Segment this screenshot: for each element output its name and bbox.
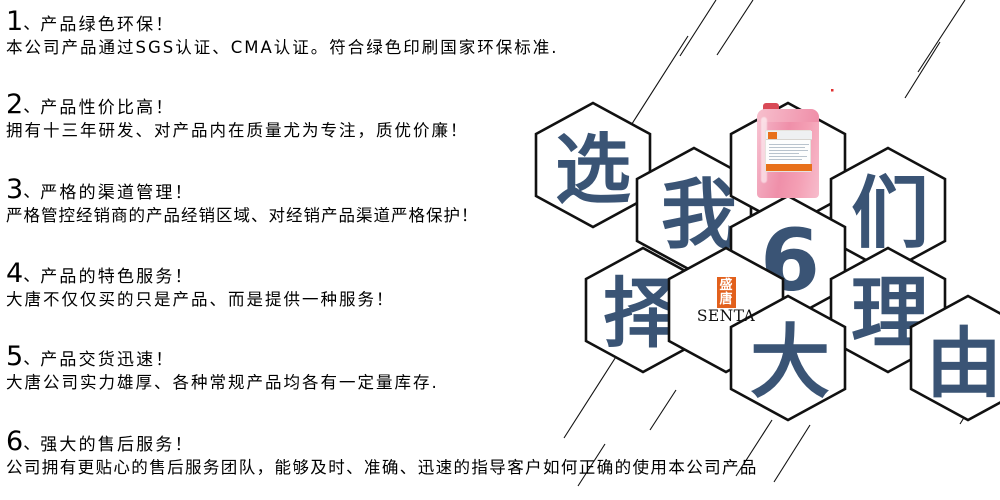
logo-wordmark: SENTA [686, 309, 766, 325]
can-label [765, 130, 811, 172]
logo-stamp-char-1: 盛 [719, 279, 734, 293]
can-label-brand-swatch [768, 132, 777, 139]
hex-char-label: 们 [851, 169, 929, 259]
can-label-footer-bar [766, 164, 812, 171]
brand-logo: 盛 唐 SENTA [686, 277, 766, 325]
promo-banner: 选 我 们 择 6 [0, 0, 1000, 500]
hex-char-label: 选 [555, 125, 631, 214]
logo-stamp-char-2: 唐 [719, 293, 734, 307]
logo-stamp: 盛 唐 [717, 277, 736, 308]
hex-cell-xuan: 选 [536, 103, 650, 227]
can-label-header [766, 131, 812, 140]
hex-char-label: 我 [661, 170, 737, 259]
honeycomb-graphic: 选 我 们 择 6 [0, 0, 1000, 500]
hex-char-label: 由 [926, 319, 1000, 408]
product-image [757, 103, 819, 198]
hex-char-label: 大 [750, 316, 830, 409]
